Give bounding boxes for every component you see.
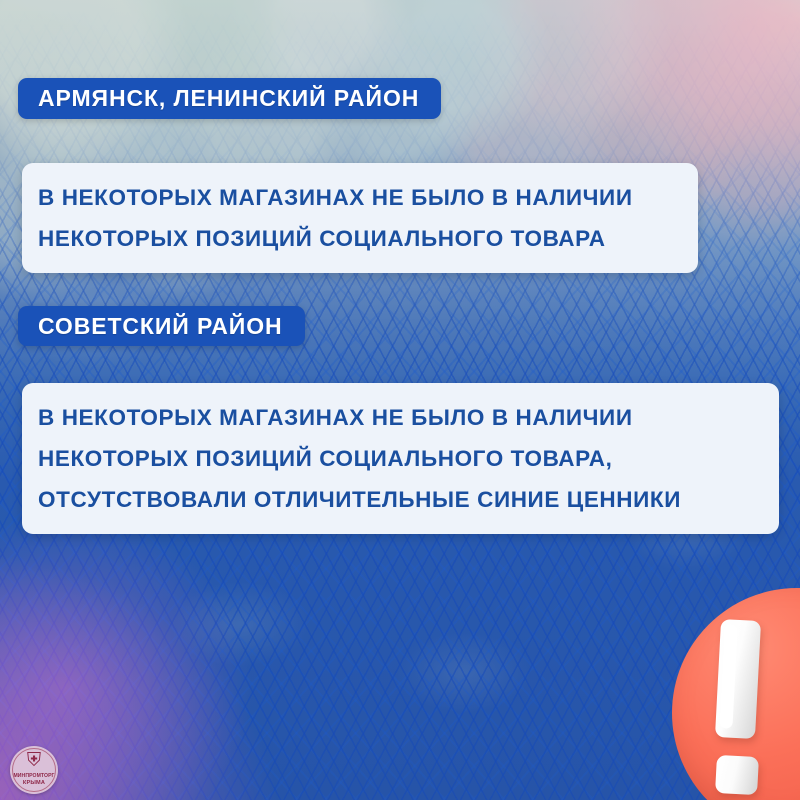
- statement-line: ОТСУТСТВОВАЛИ ОТЛИЧИТЕЛЬНЫЕ СИНИЕ ЦЕННИК…: [38, 479, 761, 520]
- region-badge-sovetsky: СОВЕТСКИЙ РАЙОН: [18, 306, 305, 346]
- exclamation-dot: [715, 755, 759, 795]
- exclamation-stem: [715, 619, 761, 739]
- exclamation-mark-icon: [672, 588, 800, 800]
- minpromtorg-logo: ⛨ МИНПРОМТОРГ КРЫМА: [10, 746, 58, 794]
- statement-line: НЕКОТОРЫХ ПОЗИЦИЙ СОЦИАЛЬНОГО ТОВАРА,: [38, 438, 761, 479]
- griffin-icon: ⛨: [10, 751, 58, 770]
- statement-line: НЕКОТОРЫХ ПОЗИЦИЙ СОЦИАЛЬНОГО ТОВАРА: [38, 218, 680, 259]
- region-badge-sovetsky-label: СОВЕТСКИЙ РАЙОН: [38, 313, 283, 340]
- statement-card-sovetsky: В НЕКОТОРЫХ МАГАЗИНАХ НЕ БЫЛО В НАЛИЧИИ …: [22, 383, 779, 534]
- region-badge-armyansk-label: АРМЯНСК, ЛЕНИНСКИЙ РАЙОН: [38, 85, 419, 112]
- logo-name-label: МИНПРОМТОРГ: [10, 773, 58, 779]
- region-badge-armyansk: АРМЯНСК, ЛЕНИНСКИЙ РАЙОН: [18, 78, 441, 119]
- statement-line: В НЕКОТОРЫХ МАГАЗИНАХ НЕ БЫЛО В НАЛИЧИИ: [38, 397, 761, 438]
- statement-line: В НЕКОТОРЫХ МАГАЗИНАХ НЕ БЫЛО В НАЛИЧИИ: [38, 177, 680, 218]
- poster-canvas: АРМЯНСК, ЛЕНИНСКИЙ РАЙОН В НЕКОТОРЫХ МАГ…: [0, 0, 800, 800]
- statement-card-armyansk: В НЕКОТОРЫХ МАГАЗИНАХ НЕ БЫЛО В НАЛИЧИИ …: [22, 163, 698, 273]
- logo-subtitle-label: КРЫМА: [10, 780, 58, 786]
